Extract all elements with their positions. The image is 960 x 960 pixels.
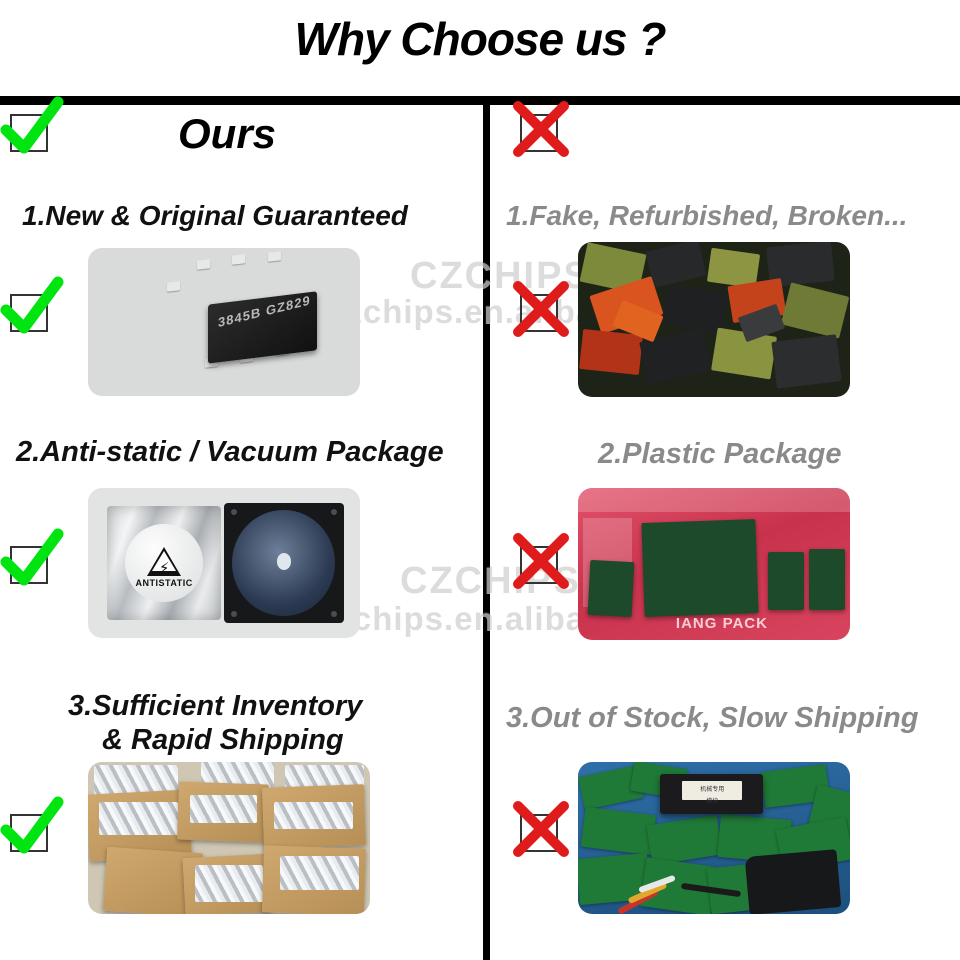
column-divider-vertical bbox=[483, 96, 490, 960]
why-choose-us-infographic: Why Choose us ? CZCHIPS czchips.en.aliba… bbox=[0, 0, 960, 960]
cross-glyph bbox=[510, 530, 572, 592]
component-reel-tray bbox=[224, 503, 344, 623]
column-label-ours: Ours bbox=[178, 110, 276, 158]
row-1-left-text: 1.New & Original Guaranteed bbox=[22, 200, 408, 231]
bag-label-disc: ⚡ ANTISTATIC bbox=[125, 524, 203, 602]
check-icon bbox=[6, 540, 52, 586]
module-label: 机械专用 模块 bbox=[682, 781, 742, 800]
row-3-left-text-line-1: 3.Sufficient Inventory bbox=[68, 690, 362, 722]
row-1-left-photo-ic-chip: 3845B GZ829 bbox=[88, 248, 360, 396]
cross-glyph bbox=[510, 798, 572, 860]
column-header-ours: Ours bbox=[0, 110, 483, 170]
row-1-right-text: 1.Fake, Refurbished, Broken... bbox=[506, 200, 907, 231]
row-3-right-photo-pcb-scrap: 机械专用 模块 bbox=[578, 762, 850, 914]
cross-icon bbox=[516, 288, 562, 334]
chip-marking-line-1: 3845B bbox=[217, 305, 260, 331]
antistatic-label: ANTISTATIC bbox=[125, 578, 203, 588]
check-icon bbox=[6, 808, 52, 854]
check-glyph bbox=[0, 278, 62, 340]
column-header-other: Other bbox=[490, 110, 960, 170]
check-glyph bbox=[0, 530, 62, 592]
cross-icon bbox=[516, 540, 562, 586]
row-2-right-photo-plastic-package: IANG PACK bbox=[578, 488, 850, 640]
antistatic-bag: ⚡ ANTISTATIC bbox=[107, 506, 221, 620]
row-1-right-photo-scrap-chips bbox=[578, 242, 850, 397]
row-2-left-photo-antistatic-package: ⚡ ANTISTATIC bbox=[88, 488, 360, 638]
lightning-bolt-icon: ⚡ bbox=[159, 561, 170, 576]
check-glyph bbox=[0, 798, 62, 860]
check-icon bbox=[6, 288, 52, 334]
pack-brand-text: IANG PACK bbox=[676, 615, 768, 632]
black-device bbox=[744, 849, 841, 914]
black-module: 机械专用 模块 bbox=[660, 774, 763, 814]
row-3-left-text-line-2: & Rapid Shipping bbox=[102, 724, 344, 756]
row-2-right-text: 2.Plastic Package bbox=[598, 438, 841, 470]
row-2-left-text: 2.Anti-static / Vacuum Package bbox=[16, 436, 444, 468]
chip-marking-line-2: GZ829 bbox=[265, 293, 310, 319]
cross-glyph bbox=[510, 278, 572, 340]
module-label-line-2: 模块 bbox=[682, 796, 742, 805]
header-divider-horizontal bbox=[0, 96, 960, 105]
row-3-right-text: 3.Out of Stock, Slow Shipping bbox=[506, 702, 918, 734]
page-title: Why Choose us ? bbox=[0, 12, 960, 66]
module-label-line-1: 机械专用 bbox=[682, 784, 742, 793]
row-3-left-photo-inventory-cartons bbox=[88, 762, 370, 914]
scrap-chip-pile bbox=[578, 242, 850, 397]
cross-icon bbox=[516, 808, 562, 854]
